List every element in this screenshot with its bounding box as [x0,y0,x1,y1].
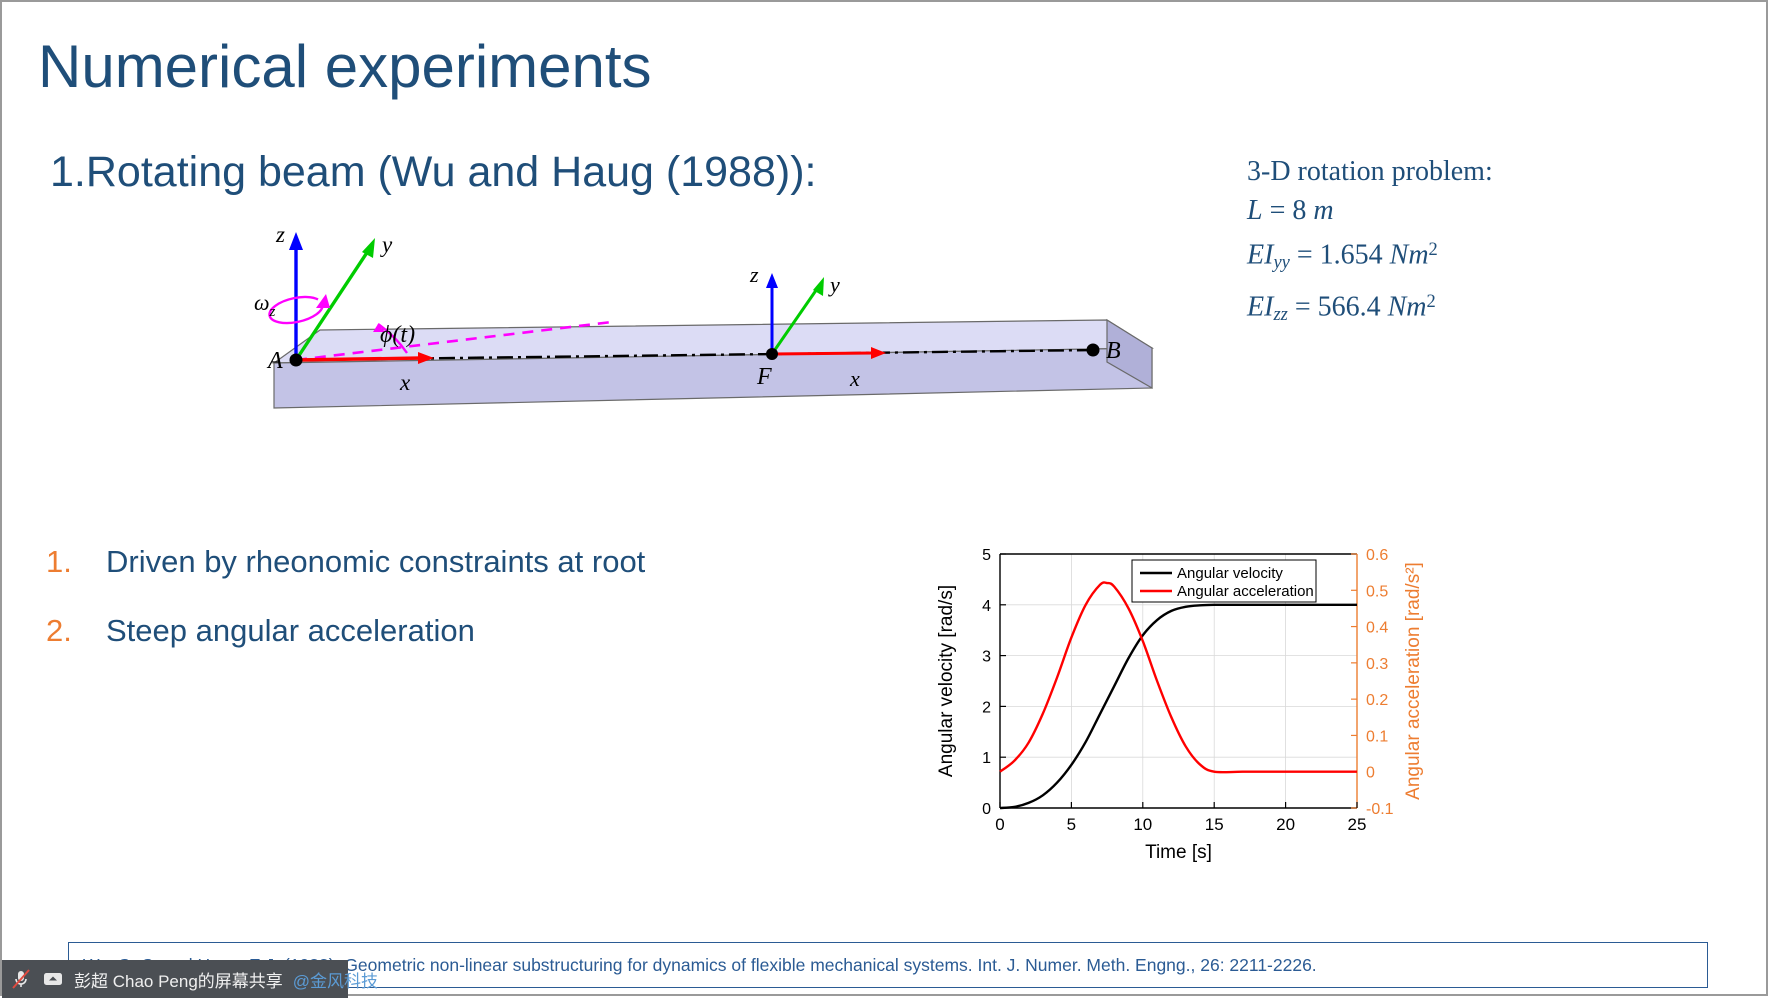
section-subtitle: 1.Rotating beam (Wu and Haug (1988)): [50,145,816,200]
param-eiyy-sup: 2 [1429,239,1438,259]
series-line-angular-acceleration [1000,582,1357,772]
label-a: A [266,348,283,374]
label-omega-sub: z [269,304,276,320]
y-tick-label-left: 3 [982,649,991,666]
x-axis-label: Time [s] [1145,842,1212,863]
list-item: 1. Driven by rheonomic constraints at ro… [46,542,766,582]
param-eiyy-value: 1.654 [1320,239,1383,270]
y-tick-label-right: 0.6 [1366,547,1388,564]
label-axis-z-a: z [275,222,285,247]
y-axis-label-left: Angular velocity [rad/s] [936,585,957,777]
y-axis-label-right: Angular acceleration [rad/s²] [1403,562,1424,800]
node-b [1087,344,1100,357]
label-omega-symbol: ω [254,290,270,315]
list-item-number: 2. [46,611,106,651]
x-tick-label: 25 [1348,815,1367,834]
node-a [290,354,303,367]
y-tick-label-right: 0.3 [1366,656,1388,673]
y-tick-label-right: -0.1 [1366,801,1394,818]
x-tick-label: 5 [1067,815,1076,834]
list-item-label: Driven by rheonomic constraints at root [106,542,645,582]
x-tick-label: 15 [1205,815,1224,834]
param-L-eq: = [1270,195,1286,226]
label-omega: ωz [254,290,276,320]
axis-x-at-f [772,353,874,354]
param-L-value: 8 [1292,195,1306,226]
y-tick-label-right: 0.4 [1366,620,1388,637]
label-axis-x-f: x [849,366,860,391]
parameter-length: L = 8 m [1247,191,1493,230]
y-tick-label-right: 0.1 [1366,728,1388,745]
axis-z-at-f-arrowhead [766,273,778,288]
screen-share-taskbar: 彭超 Chao Peng的屏幕共享 @金风科技 [2,960,348,998]
list-item-label: Steep angular acceleration [106,611,475,651]
y-tick-label-left: 5 [982,547,991,564]
x-tick-label: 10 [1133,815,1152,834]
rotating-beam-diagram: A F B z y x z y x ωz ϕ(t) [252,220,1162,420]
parameter-eizz: EIzz = 566.4 Nm2 [1247,282,1493,334]
y-tick-label-right: 0 [1366,765,1375,782]
param-eiyy-eq: = [1297,239,1313,270]
label-phi: ϕ(t) [380,322,415,348]
parameter-block: 3-D rotation problem: L = 8 m EIyy = 1.6… [1247,152,1493,334]
y-tick-label-right: 0.5 [1366,583,1388,600]
axis-x-at-a [296,358,422,360]
share-owner-label: 彭超 Chao Peng的屏幕共享 [74,967,283,992]
legend-label: Angular acceleration [1177,583,1314,600]
param-eizz-unit: Nm [1388,291,1427,322]
omega-spin-arrowhead [316,294,330,308]
param-eizz-eq: = [1295,291,1311,322]
label-f: F [756,364,772,390]
legend-label: Angular velocity [1177,565,1283,582]
param-eiyy-symbol: EI [1247,239,1273,270]
param-eizz-sub: zz [1273,304,1287,324]
param-L-symbol: L [1247,195,1263,226]
y-tick-label-right: 0.2 [1366,692,1388,709]
label-axis-y-a: y [380,232,393,257]
label-axis-z-f: z [749,262,759,287]
parameter-heading: 3-D rotation problem: [1247,152,1493,191]
param-L-unit: m [1313,195,1333,226]
x-tick-label: 0 [995,815,1004,834]
angular-motion-chart: 012345-0.100.10.20.30.40.50.60510152025T… [932,540,1452,870]
param-eizz-symbol: EI [1247,291,1273,322]
label-b: B [1106,338,1121,364]
label-axis-y-f: y [828,272,840,297]
y-tick-label-left: 4 [982,598,991,615]
axis-z-at-a-arrowhead [289,232,303,250]
y-tick-label-left: 0 [982,801,991,818]
slide-canvas: Numerical experiments 1.Rotating beam (W… [0,0,1768,996]
y-tick-label-left: 2 [982,699,991,716]
screen-share-icon[interactable] [42,968,64,990]
page-title: Numerical experiments [38,32,652,102]
node-f [766,348,778,360]
x-tick-label: 20 [1276,815,1295,834]
param-eiyy-sub: yy [1273,252,1289,272]
y-tick-label-left: 1 [982,750,991,767]
microphone-muted-icon[interactable] [10,968,32,990]
parameter-eiyy: EIyy = 1.654 Nm2 [1247,230,1493,282]
label-axis-x-a: x [399,370,411,395]
param-eizz-value: 566.4 [1318,291,1381,322]
bullet-list: 1. Driven by rheonomic constraints at ro… [46,542,766,680]
list-item: 2. Steep angular acceleration [46,611,766,651]
watermark-label: @金风科技 [293,967,378,992]
list-item-number: 1. [46,542,106,582]
param-eizz-sup: 2 [1427,291,1436,311]
param-eiyy-unit: Nm [1390,239,1429,270]
